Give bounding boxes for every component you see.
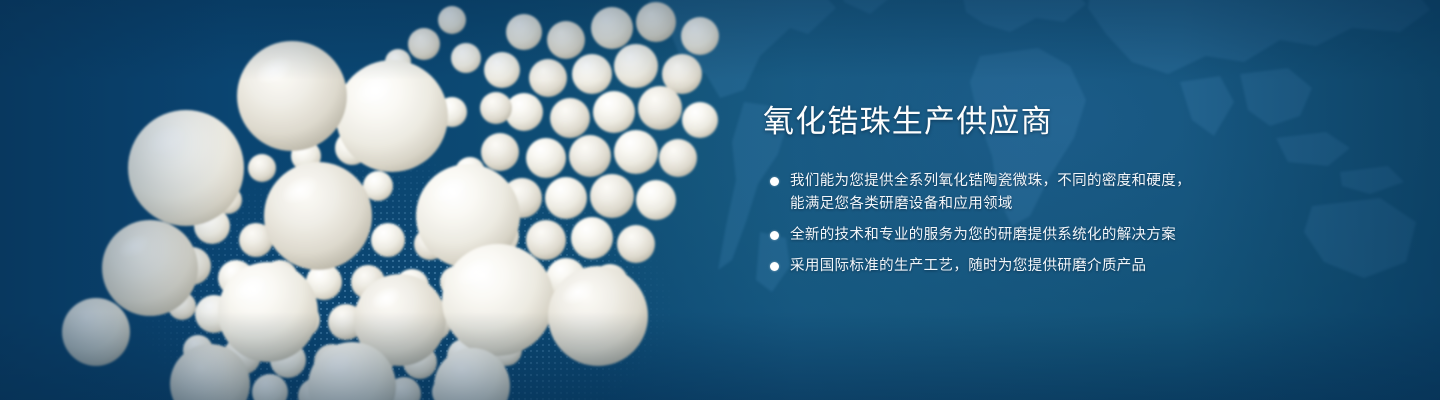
- feature-text-line1: 采用国际标准的生产工艺，随时为您提供研磨介质产品: [790, 258, 1146, 274]
- feature-list: 我们能为您提供全系列氧化锆陶瓷微珠，不同的密度和硬度， 能满足您各类研磨设备和应…: [763, 170, 1233, 278]
- feature-text-line2: 能满足您各类研磨设备和应用领域: [790, 193, 1233, 216]
- bullet-dot-icon: [770, 231, 779, 240]
- bullet-dot-icon: [770, 177, 779, 186]
- feature-text-line1: 我们能为您提供全系列氧化锆陶瓷微珠，不同的密度和硬度，: [790, 173, 1191, 189]
- list-item: 我们能为您提供全系列氧化锆陶瓷微珠，不同的密度和硬度， 能满足您各类研磨设备和应…: [763, 170, 1233, 216]
- banner-copy: 氧化锆珠生产供应商 我们能为您提供全系列氧化锆陶瓷微珠，不同的密度和硬度， 能满…: [763, 104, 1233, 278]
- banner-headline: 氧化锆珠生产供应商: [763, 104, 1233, 140]
- bullet-dot-icon: [770, 262, 779, 271]
- feature-text-line1: 全新的技术和专业的服务为您的研磨提供系统化的解决方案: [790, 227, 1176, 243]
- list-item: 全新的技术和专业的服务为您的研磨提供系统化的解决方案: [763, 224, 1233, 247]
- list-item: 采用国际标准的生产工艺，随时为您提供研磨介质产品: [763, 255, 1233, 278]
- hero-banner: 氧化锆珠生产供应商 我们能为您提供全系列氧化锆陶瓷微珠，不同的密度和硬度， 能满…: [0, 0, 1440, 400]
